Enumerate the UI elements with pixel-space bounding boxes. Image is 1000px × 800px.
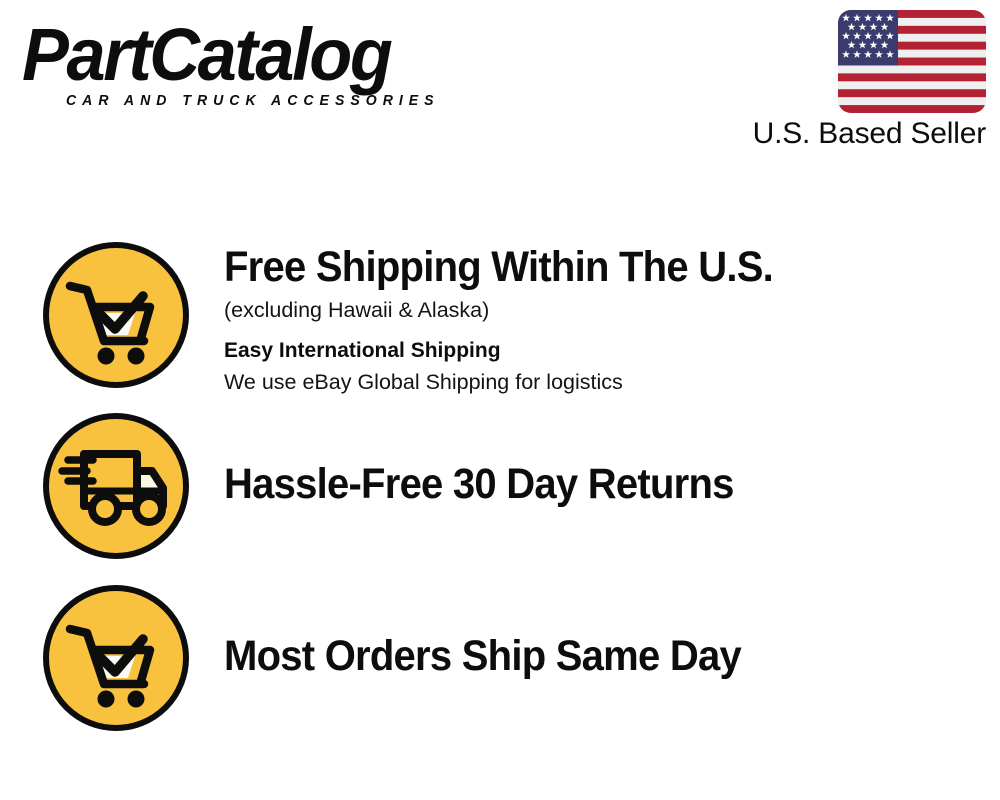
feature-secondary-title: Easy International Shipping — [224, 336, 814, 366]
feature-row-free-shipping: Free Shipping Within The U.S. (excluding… — [40, 239, 814, 397]
brand-tagline: CAR AND TRUCK ACCESSORIES — [66, 93, 489, 109]
us-flag-icon — [838, 10, 986, 113]
cart-check-icon — [40, 582, 192, 734]
feature-text-block: Most Orders Ship Same Day — [224, 582, 780, 681]
feature-text-block: Free Shipping Within The U.S. (excluding… — [224, 239, 814, 397]
banner-header: PartCatalog CAR AND TRUCK ACCESSORIES — [0, 0, 1000, 175]
feature-title: Free Shipping Within The U.S. — [224, 243, 773, 292]
us-based-seller-label: U.S. Based Seller — [753, 117, 986, 151]
feature-row-returns: Hassle-Free 30 Day Returns — [40, 410, 772, 562]
feature-row-same-day: Most Orders Ship Same Day — [40, 582, 780, 734]
feature-text-block: Hassle-Free 30 Day Returns — [224, 410, 772, 509]
cart-check-icon — [40, 239, 192, 391]
brand-wordmark: PartCatalog — [22, 18, 478, 92]
feature-title: Most Orders Ship Same Day — [224, 632, 741, 681]
feature-subtitle: (excluding Hawaii & Alaska) — [224, 295, 814, 325]
partcatalog-logo: PartCatalog CAR AND TRUCK ACCESSORIES — [22, 18, 502, 118]
feature-secondary-subtitle: We use eBay Global Shipping for logistic… — [224, 367, 814, 397]
feature-title: Hassle-Free 30 Day Returns — [224, 460, 734, 509]
delivery-truck-icon — [40, 410, 192, 562]
